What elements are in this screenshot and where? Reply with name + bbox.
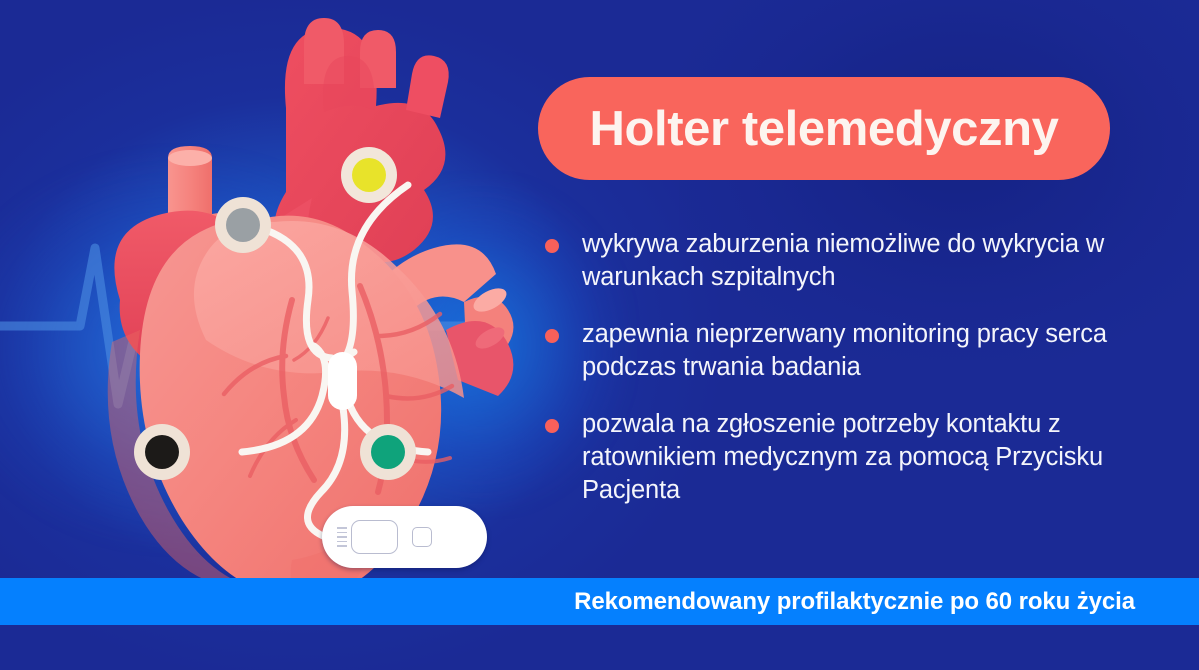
- benefit-text: pozwala na zgłoszenie potrzeby kontaktu …: [582, 408, 1165, 507]
- holter-recorder-device[interactable]: [322, 506, 487, 568]
- electrode-layer: [60, 0, 580, 640]
- benefits-list: wykrywa zaburzenia niemożliwe do wykryci…: [545, 228, 1165, 531]
- bullet-dot-icon: [545, 329, 559, 343]
- bullet-dot-icon: [545, 419, 559, 433]
- patient-button[interactable]: [412, 527, 432, 547]
- benefit-text: zapewnia nieprzerwany monitoring pracy s…: [582, 318, 1165, 384]
- signal-bars-icon: [337, 527, 347, 547]
- electrode-green: [360, 424, 416, 480]
- title-badge: Holter telemedyczny: [538, 77, 1110, 180]
- bullet-dot-icon: [545, 239, 559, 253]
- electrode-black: [134, 424, 190, 480]
- footer-banner: [0, 578, 1199, 625]
- electrode-gray: [215, 197, 271, 253]
- device-screen: [351, 520, 398, 554]
- benefit-text: wykrywa zaburzenia niemożliwe do wykryci…: [582, 228, 1165, 294]
- list-item: wykrywa zaburzenia niemożliwe do wykryci…: [545, 228, 1165, 294]
- electrode-yellow: [341, 147, 397, 203]
- list-item: zapewnia nieprzerwany monitoring pracy s…: [545, 318, 1165, 384]
- infographic-canvas: Holter telemedyczny wykrywa zaburzenia n…: [0, 0, 1199, 670]
- list-item: pozwala na zgłoszenie potrzeby kontaktu …: [545, 408, 1165, 507]
- page-title: Holter telemedyczny: [590, 101, 1059, 157]
